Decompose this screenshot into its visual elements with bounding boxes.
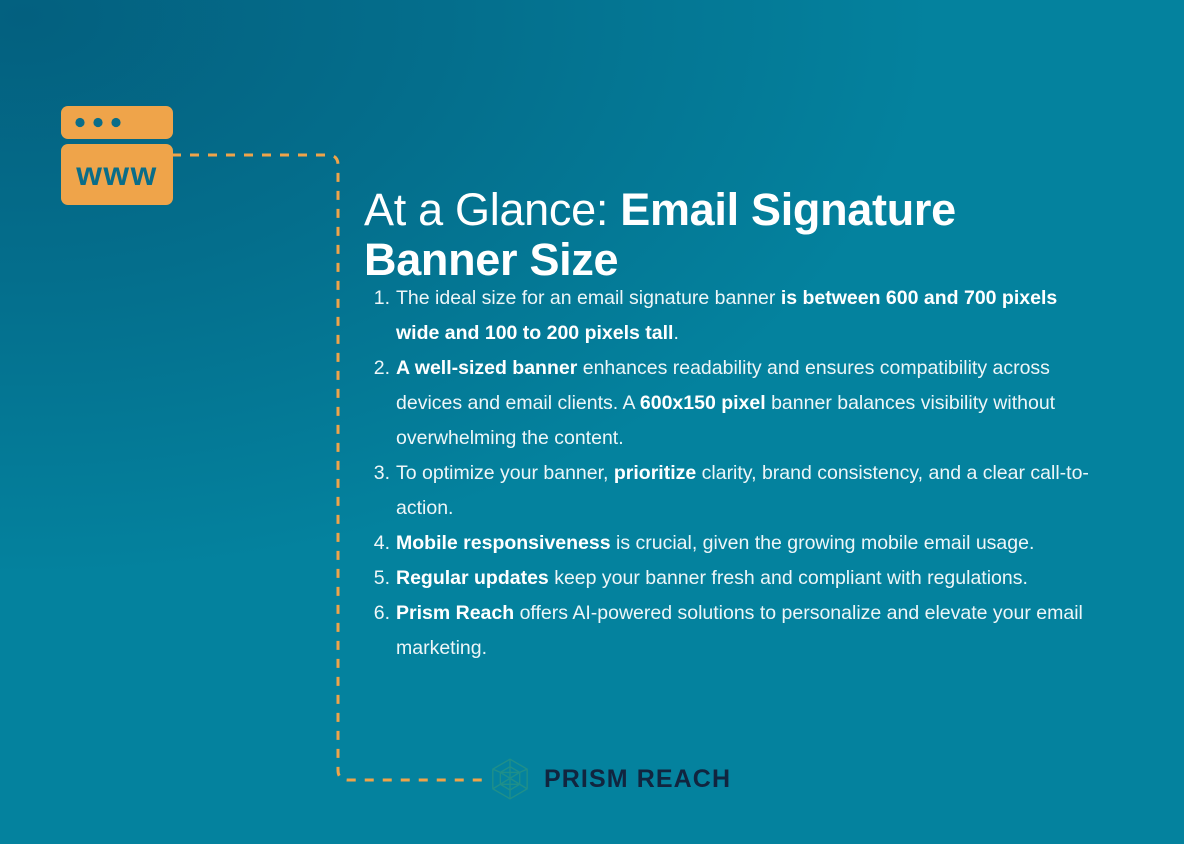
- list-item-text: Regular updates keep your banner fresh a…: [396, 567, 1028, 589]
- list-item-text: Prism Reach offers AI-powered solutions …: [396, 602, 1083, 659]
- list-item: 1.The ideal size for an email signature …: [366, 281, 1094, 351]
- list-item: 2.A well-sized banner enhances readabili…: [366, 351, 1094, 456]
- list-item: 3. To optimize your banner, prioritize c…: [366, 456, 1094, 526]
- key-points-list: 1.The ideal size for an email signature …: [366, 281, 1094, 666]
- list-item-number: 5.: [366, 561, 390, 596]
- brand-name: PRISM REACH: [544, 765, 731, 794]
- list-item: 5.Regular updates keep your banner fresh…: [366, 561, 1094, 596]
- list-item-text: Mobile responsiveness is crucial, given …: [396, 532, 1034, 554]
- infographic-canvas: www At a Glance: Email Signature Banner …: [0, 0, 1184, 844]
- list-item-number: 2.: [366, 351, 390, 386]
- page-title: At a Glance: Email Signature Banner Size: [364, 185, 1094, 285]
- brand-logo: PRISM REACH: [488, 757, 731, 801]
- list-item: 4.Mobile responsiveness is crucial, give…: [366, 526, 1094, 561]
- list-item-text: To optimize your banner, prioritize clar…: [396, 462, 1089, 519]
- list-item-number: 4.: [366, 526, 390, 561]
- browser-window-icon: www: [61, 106, 173, 205]
- list-item-text: The ideal size for an email signature ba…: [396, 287, 1057, 344]
- list-item-number: 6.: [366, 596, 390, 631]
- list-item-number: 3.: [366, 456, 390, 491]
- browser-dot-icon: [111, 118, 120, 127]
- prism-hexagon-icon: [488, 757, 532, 801]
- list-item: 6.Prism Reach offers AI-powered solution…: [366, 596, 1094, 666]
- title-prefix: At a Glance:: [364, 184, 620, 235]
- browser-dot-icon: [75, 118, 84, 127]
- browser-dot-icon: [93, 118, 102, 127]
- list-item-number: 1.: [366, 281, 390, 316]
- list-item-text: A well-sized banner enhances readability…: [396, 357, 1055, 449]
- svg-text:www: www: [75, 155, 158, 192]
